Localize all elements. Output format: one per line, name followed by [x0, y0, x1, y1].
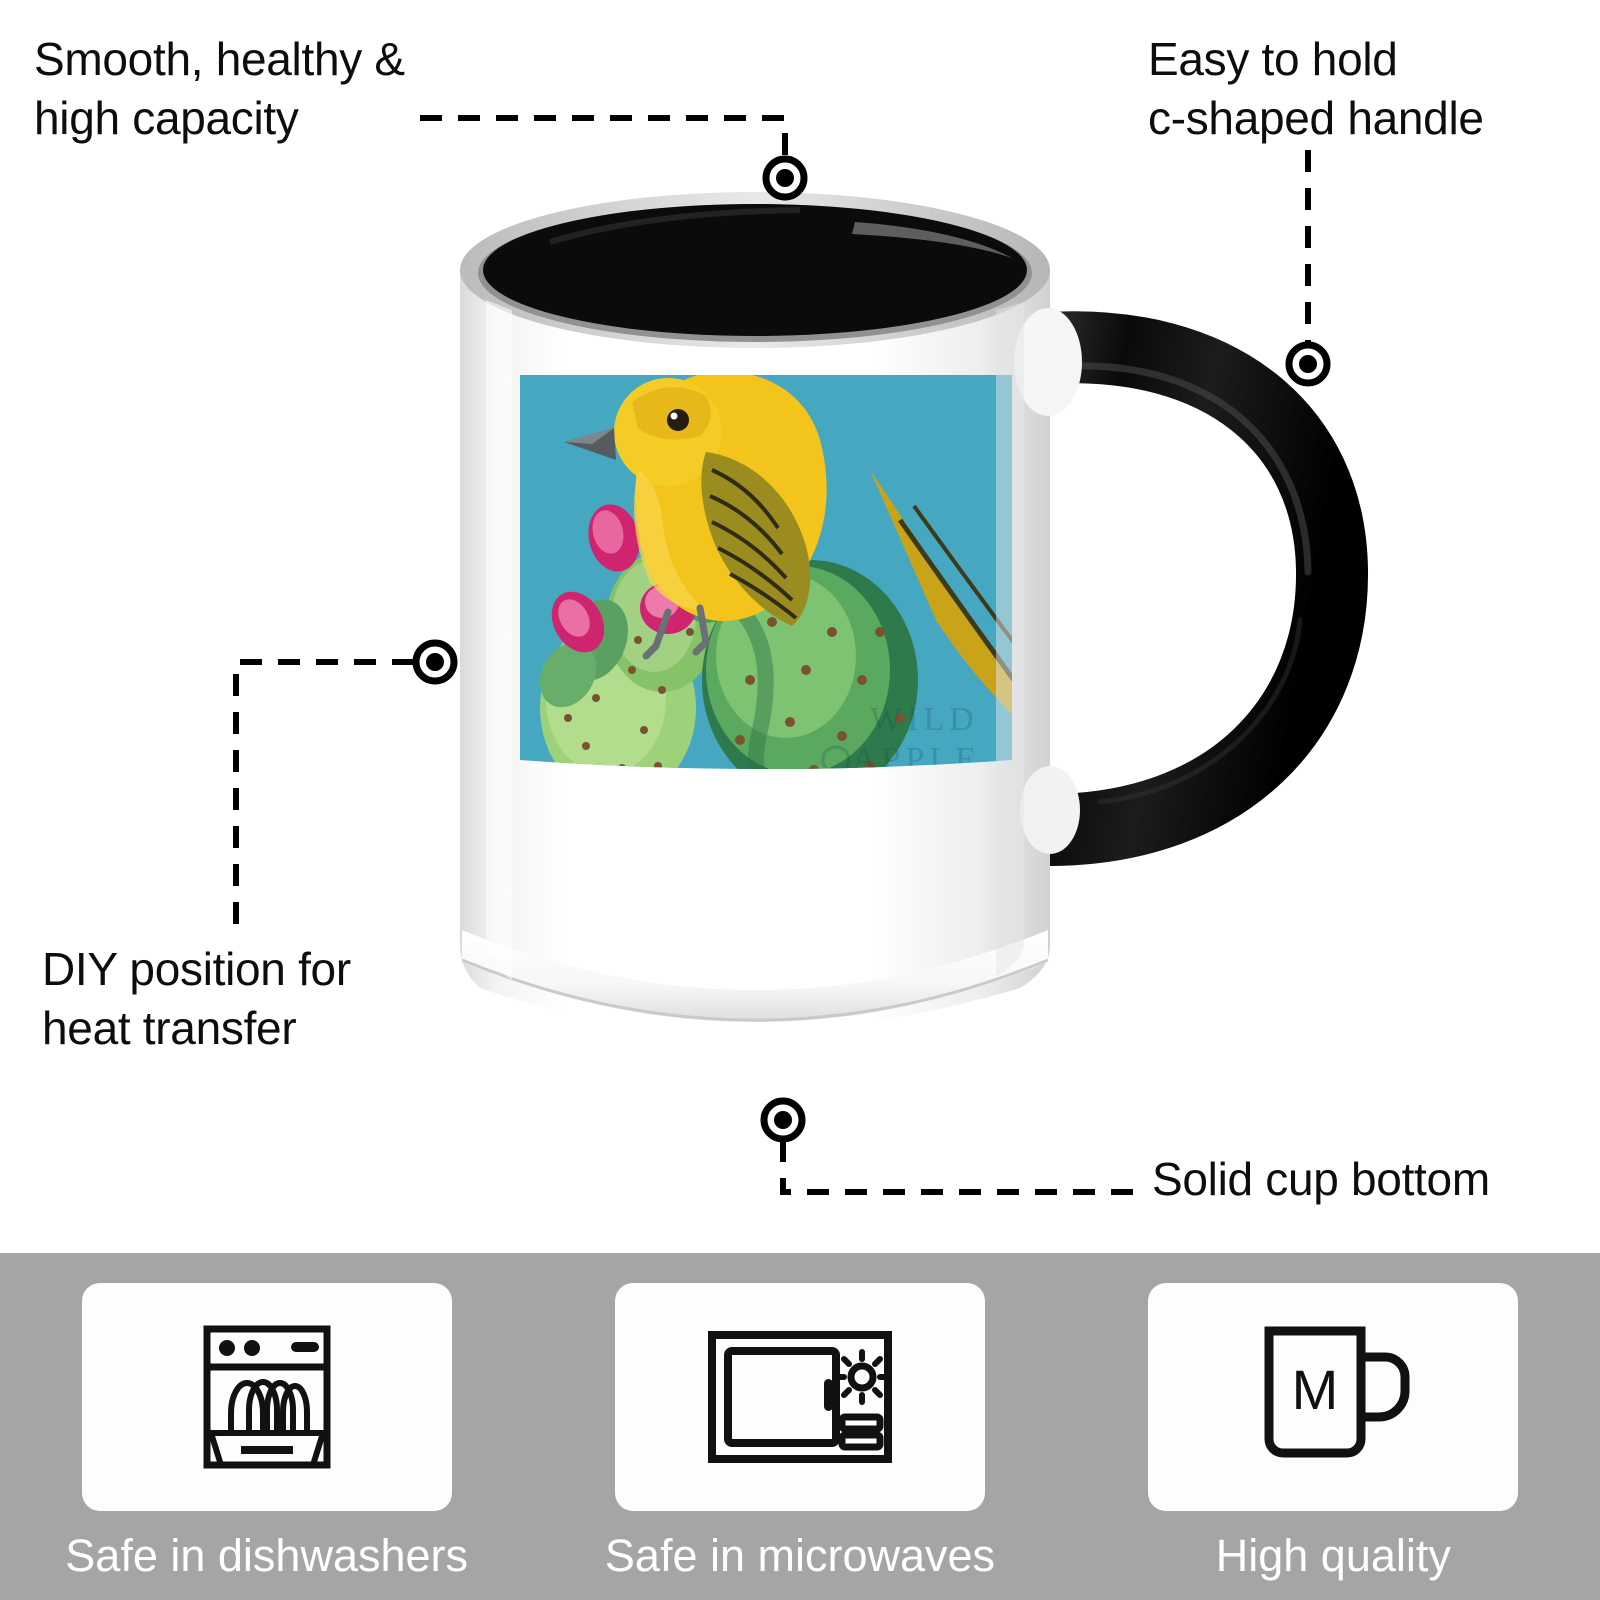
- callout-label-bottom: Solid cup bottom: [1152, 1150, 1572, 1209]
- feature-strip: Safe in dishwashers: [0, 1253, 1600, 1600]
- callout-label-smooth: Smooth, healthy & high capacity: [34, 30, 504, 148]
- feature-microwave: Safe in microwaves: [533, 1253, 1066, 1578]
- feature-label-dishwasher: Safe in dishwashers: [65, 1533, 468, 1578]
- product-infographic: WILD APPLE: [0, 0, 1600, 1600]
- callout-line-bottom: [783, 1140, 1140, 1192]
- dishwasher-icon: [179, 1309, 355, 1485]
- feature-tile-quality: M: [1148, 1283, 1518, 1511]
- mug-svg: WILD APPLE: [400, 170, 1420, 1130]
- callout-label-handle: Easy to hold c-shaped handle: [1148, 30, 1568, 148]
- feature-quality: M High quality: [1067, 1253, 1600, 1578]
- microwave-icon: [702, 1321, 898, 1473]
- feature-label-microwave: Safe in microwaves: [605, 1533, 995, 1578]
- feature-dishwasher: Safe in dishwashers: [0, 1253, 533, 1578]
- watermark-line-1: WILD: [870, 701, 979, 738]
- callout-label-diy: DIY position for heat transfer: [42, 940, 472, 1058]
- mug-icon-letter: M: [1292, 1358, 1339, 1421]
- mug-handle: [1048, 347, 1332, 830]
- callout-line-diy: [236, 662, 414, 940]
- feature-tile-microwave: [615, 1283, 985, 1511]
- feature-label-quality: High quality: [1216, 1533, 1451, 1578]
- feature-tile-dishwasher: [82, 1283, 452, 1511]
- mug-quality-icon: M: [1247, 1321, 1419, 1473]
- printed-artwork: WILD APPLE: [510, 365, 1064, 800]
- mug-rim: [460, 192, 1050, 348]
- mug-illustration: WILD APPLE: [400, 170, 1420, 1130]
- mug-interior: [483, 204, 1027, 336]
